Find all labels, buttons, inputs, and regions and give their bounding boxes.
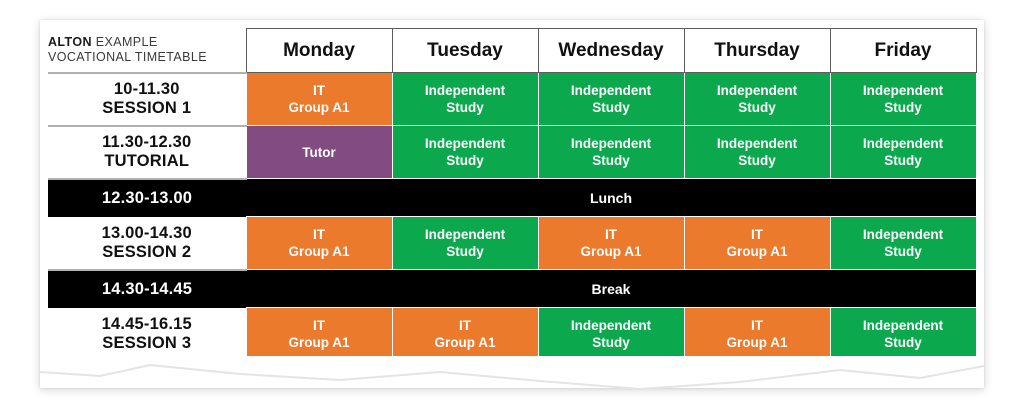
activity-group: Group A1 — [247, 334, 392, 351]
day-header-wednesday: Wednesday — [538, 29, 684, 73]
activity-group: Group A1 — [685, 334, 830, 351]
session-time-label: 11.30-12.30TUTORIAL — [48, 126, 246, 179]
activity-cell[interactable]: ITGroup A1 — [246, 217, 392, 270]
session-row: 11.30-12.30TUTORIALTutorIndependentStudy… — [48, 126, 976, 179]
activity-title: Independent — [571, 318, 651, 333]
activity-group: Study — [393, 243, 538, 260]
activity-title: Independent — [425, 136, 505, 151]
activity-title: IT — [751, 318, 763, 333]
day-header-monday: Monday — [246, 29, 392, 73]
banner-activity-label: Break — [246, 270, 976, 308]
activity-group: Group A1 — [247, 99, 392, 116]
activity-cell[interactable]: IndependentStudy — [830, 217, 976, 270]
activity-title: Independent — [571, 136, 651, 151]
activity-group: Study — [831, 243, 976, 260]
activity-group: Group A1 — [247, 243, 392, 260]
activity-group: Group A1 — [685, 243, 830, 260]
activity-group: Study — [831, 99, 976, 116]
activity-cell[interactable]: IndependentStudy — [392, 217, 538, 270]
session-name: SESSION 2 — [48, 243, 246, 262]
activity-cell[interactable]: ITGroup A1 — [684, 217, 830, 270]
activity-title: IT — [459, 318, 471, 333]
banner-time-label: 14.30-14.45 — [48, 270, 246, 308]
activity-title: Independent — [863, 136, 943, 151]
session-time-range: 11.30-12.30 — [102, 133, 191, 151]
activity-group: Study — [685, 152, 830, 169]
header-row: ALTON EXAMPLEVOCATIONAL TIMETABLEMondayT… — [48, 29, 976, 73]
activity-cell[interactable]: IndependentStudy — [538, 73, 684, 126]
title-suffix: EXAMPLE — [92, 35, 158, 49]
activity-cell[interactable]: IndependentStudy — [538, 126, 684, 179]
activity-title: Independent — [863, 227, 943, 242]
session-name: SESSION 3 — [48, 334, 246, 353]
activity-group: Group A1 — [539, 243, 684, 260]
activity-cell[interactable]: ITGroup A1 — [392, 308, 538, 361]
day-header-tuesday: Tuesday — [392, 29, 538, 73]
session-name: TUTORIAL — [48, 152, 246, 171]
activity-title: IT — [313, 83, 325, 98]
day-header-friday: Friday — [830, 29, 976, 73]
activity-cell[interactable]: ITGroup A1 — [246, 308, 392, 361]
session-time-range: 13.00-14.30 — [102, 224, 192, 242]
activity-group: Study — [685, 99, 830, 116]
banner-time-label: 12.30-13.00 — [48, 179, 246, 217]
activity-title: IT — [313, 227, 325, 242]
banner-row: 12.30-13.00Lunch — [48, 179, 976, 217]
activity-title: Independent — [571, 83, 651, 98]
activity-group: Study — [831, 152, 976, 169]
activity-cell[interactable]: IndependentStudy — [392, 73, 538, 126]
activity-cell[interactable]: ITGroup A1 — [538, 217, 684, 270]
timetable-title: ALTON EXAMPLEVOCATIONAL TIMETABLE — [48, 29, 246, 73]
activity-title: Independent — [863, 83, 943, 98]
activity-cell[interactable]: IndependentStudy — [684, 126, 830, 179]
session-time-label: 10-11.30SESSION 1 — [48, 73, 246, 126]
activity-group: Study — [539, 334, 684, 351]
activity-cell[interactable]: IndependentStudy — [830, 308, 976, 361]
activity-cell[interactable]: Tutor — [246, 126, 392, 179]
activity-group: Study — [539, 99, 684, 116]
banner-activity-label: Lunch — [246, 179, 976, 217]
session-time-label: 14.45-16.15SESSION 3 — [48, 308, 246, 361]
activity-title: Independent — [863, 318, 943, 333]
activity-group: Study — [393, 152, 538, 169]
activity-group: Study — [393, 99, 538, 116]
title-brand: ALTON — [48, 35, 92, 49]
activity-title: Independent — [425, 227, 505, 242]
timetable-card: ALTON EXAMPLEVOCATIONAL TIMETABLEMondayT… — [40, 20, 984, 388]
session-row: 10-11.30SESSION 1ITGroup A1IndependentSt… — [48, 73, 976, 126]
session-name: SESSION 1 — [48, 99, 246, 118]
activity-group: Study — [831, 334, 976, 351]
screenshot-root: ALTON EXAMPLEVOCATIONAL TIMETABLEMondayT… — [0, 0, 1024, 401]
day-header-thursday: Thursday — [684, 29, 830, 73]
activity-cell[interactable]: ITGroup A1 — [684, 308, 830, 361]
activity-group: Group A1 — [393, 334, 538, 351]
activity-cell[interactable]: ITGroup A1 — [246, 73, 392, 126]
session-time-label: 13.00-14.30SESSION 2 — [48, 217, 246, 270]
activity-title: Independent — [425, 83, 505, 98]
activity-title: Independent — [717, 83, 797, 98]
activity-cell[interactable]: IndependentStudy — [830, 73, 976, 126]
activity-cell[interactable]: IndependentStudy — [392, 126, 538, 179]
session-row: 13.00-14.30SESSION 2ITGroup A1Independen… — [48, 217, 976, 270]
session-time-range: 14.45-16.15 — [102, 315, 192, 333]
banner-row: 14.30-14.45Break — [48, 270, 976, 308]
session-time-range: 10-11.30 — [114, 80, 180, 98]
activity-title: IT — [605, 227, 617, 242]
activity-title: IT — [313, 318, 325, 333]
activity-cell[interactable]: IndependentStudy — [684, 73, 830, 126]
session-row: 14.45-16.15SESSION 3ITGroup A1ITGroup A1… — [48, 308, 976, 361]
activity-title: Tutor — [302, 145, 336, 160]
title-subline: VOCATIONAL TIMETABLE — [48, 50, 246, 65]
activity-group: Study — [539, 152, 684, 169]
activity-title: Independent — [717, 136, 797, 151]
activity-cell[interactable]: IndependentStudy — [538, 308, 684, 361]
activity-title: IT — [751, 227, 763, 242]
activity-cell[interactable]: IndependentStudy — [830, 126, 976, 179]
timetable: ALTON EXAMPLEVOCATIONAL TIMETABLEMondayT… — [48, 28, 977, 362]
